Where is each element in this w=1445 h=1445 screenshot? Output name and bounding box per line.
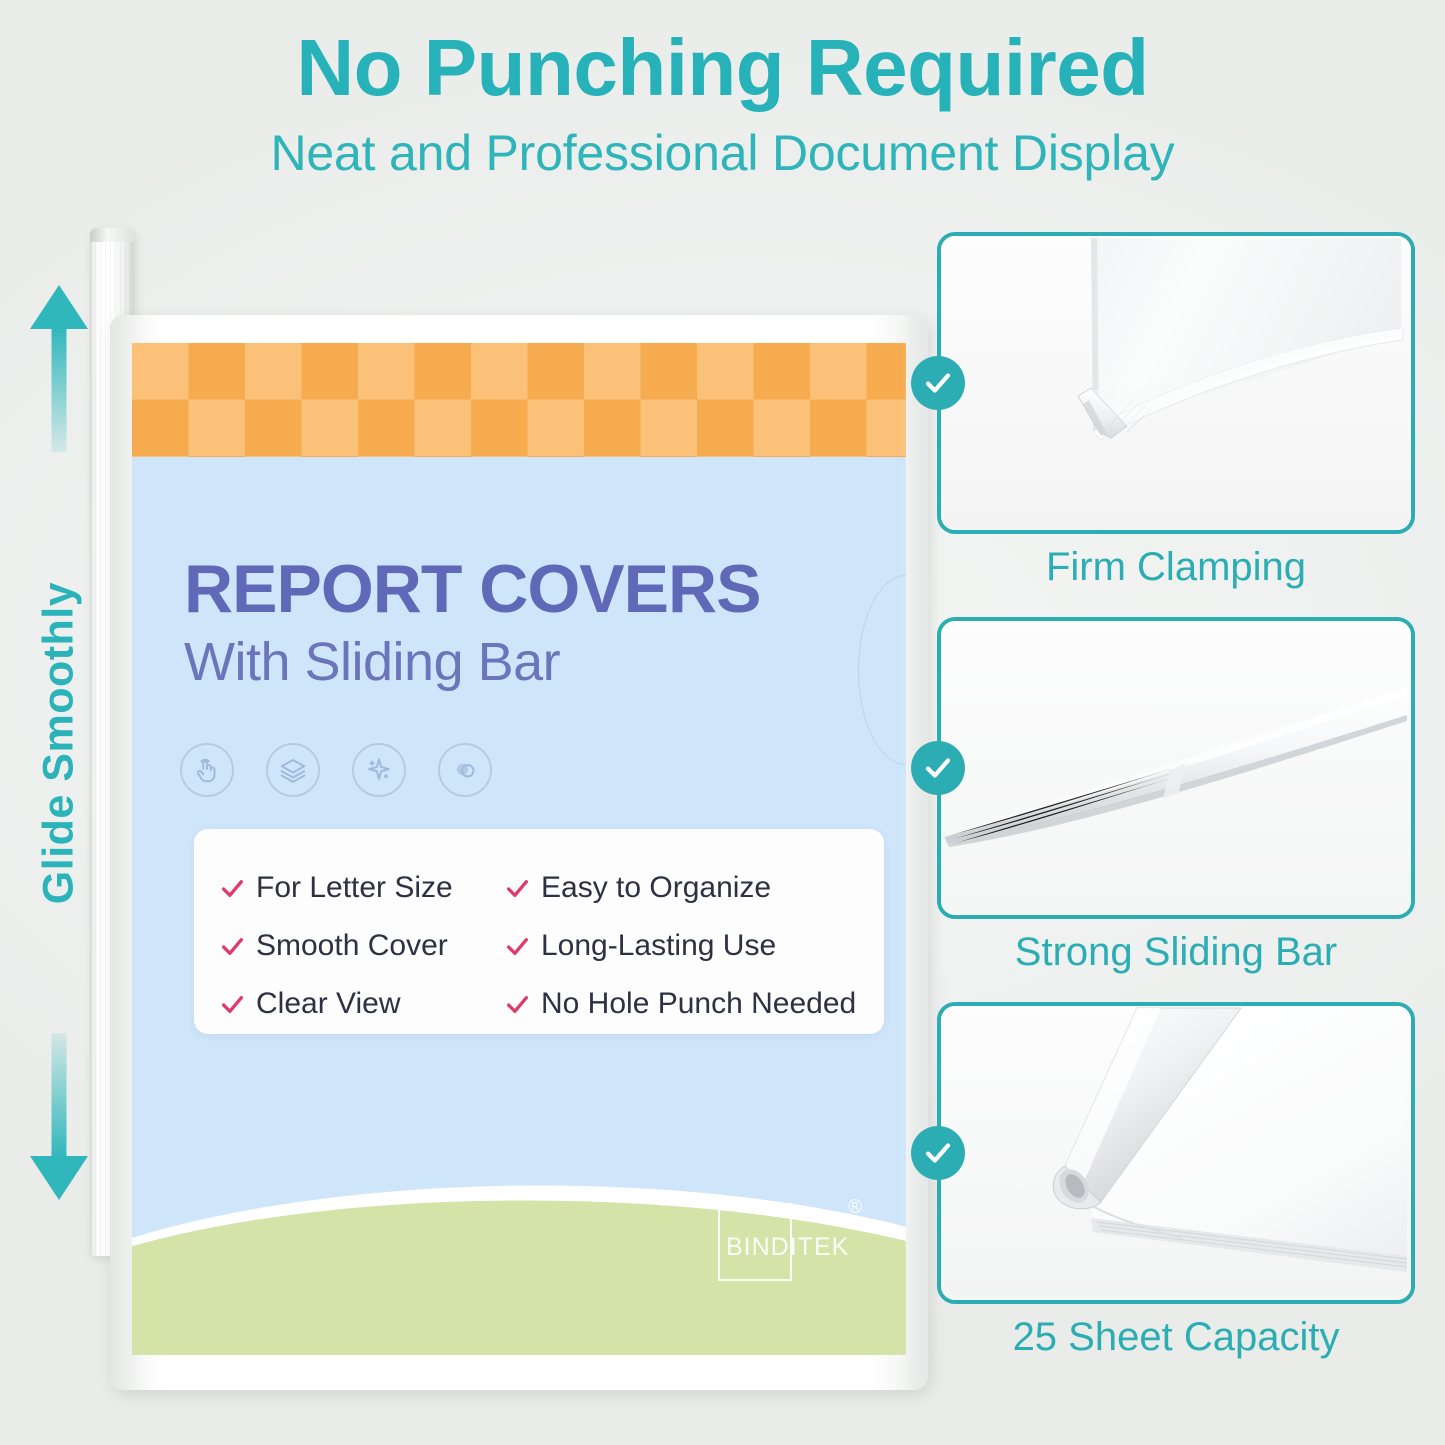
arrow-stem-lower — [52, 1033, 67, 1158]
feature-icon-row — [180, 743, 492, 797]
check-icon — [923, 1138, 953, 1168]
checklist-label: Long-Lasting Use — [541, 929, 776, 963]
checklist-label: For Letter Size — [256, 871, 453, 905]
checklist-label: Clear View — [256, 987, 401, 1021]
checklist-label: Smooth Cover — [256, 929, 448, 963]
check-icon — [923, 368, 953, 398]
infographic-canvas: No Punching Required Neat and Profession… — [0, 0, 1445, 1445]
checklist-item: No Hole Punch Needed — [505, 975, 858, 1033]
checkerboard-band — [132, 343, 906, 457]
touch-finger-icon — [180, 743, 234, 797]
checklist-item: Long-Lasting Use — [505, 917, 858, 975]
sliding-bar-top-cap — [90, 228, 134, 242]
glide-smoothly-label: Glide Smoothly — [35, 581, 84, 903]
feature-checklist-card: For Letter Size Easy to Organize Smooth … — [194, 829, 884, 1034]
panel-caption: 25 Sheet Capacity — [937, 1315, 1415, 1360]
cover-title: REPORT COVERS — [184, 555, 760, 623]
brand-logo: BINDITEK ® — [718, 1197, 868, 1283]
check-icon — [220, 876, 245, 901]
arrow-stem-upper — [52, 327, 67, 452]
registered-trademark-icon: ® — [848, 1197, 862, 1219]
page-title: No Punching Required — [0, 26, 1445, 110]
panel-check-badge — [911, 1126, 965, 1180]
glide-smoothly-callout: Glide Smoothly — [26, 285, 92, 1200]
panel-caption: Strong Sliding Bar — [937, 930, 1415, 975]
report-cover-folder: REPORT COVERS With Sliding Bar — [110, 315, 928, 1390]
thumb-notch-arc — [858, 575, 906, 765]
report-cover-sliding-bar-closeup — [941, 236, 1411, 530]
feature-panel-sheet-capacity — [937, 1002, 1415, 1304]
printed-cover-sheet: REPORT COVERS With Sliding Bar — [132, 343, 906, 1355]
header-block: No Punching Required Neat and Profession… — [0, 26, 1445, 182]
sliding-bar-with-paper-stack — [941, 1006, 1411, 1300]
layers-stack-icon — [266, 743, 320, 797]
panel-caption: Firm Clamping — [937, 545, 1415, 590]
cover-heading-block: REPORT COVERS With Sliding Bar — [184, 555, 760, 689]
folder-spine-highlight — [902, 315, 928, 1390]
check-icon — [220, 934, 245, 959]
overlapping-circles-icon — [438, 743, 492, 797]
sliding-bar-diagonal-closeup — [941, 621, 1411, 915]
check-icon — [923, 753, 953, 783]
panel-check-badge — [911, 741, 965, 795]
checklist-item: For Letter Size — [220, 859, 505, 917]
brand-name-label: BINDITEK — [726, 1233, 849, 1262]
feature-panel-firm-clamping — [937, 232, 1415, 534]
checklist-label: Easy to Organize — [541, 871, 771, 905]
checklist-item: Easy to Organize — [505, 859, 858, 917]
feature-panel-strong-sliding-bar — [937, 617, 1415, 919]
checklist-label: No Hole Punch Needed — [541, 987, 856, 1021]
checklist-item: Smooth Cover — [220, 917, 505, 975]
panel-check-badge — [911, 356, 965, 410]
arrow-down-icon — [30, 1156, 88, 1200]
check-icon — [220, 992, 245, 1017]
check-icon — [505, 876, 530, 901]
checklist-item: Clear View — [220, 975, 505, 1033]
cover-subtitle: With Sliding Bar — [184, 635, 760, 689]
page-subtitle: Neat and Professional Document Display — [0, 124, 1445, 182]
check-icon — [505, 934, 530, 959]
sparkle-shine-icon — [352, 743, 406, 797]
check-icon — [505, 992, 530, 1017]
arrow-up-icon — [30, 285, 88, 329]
